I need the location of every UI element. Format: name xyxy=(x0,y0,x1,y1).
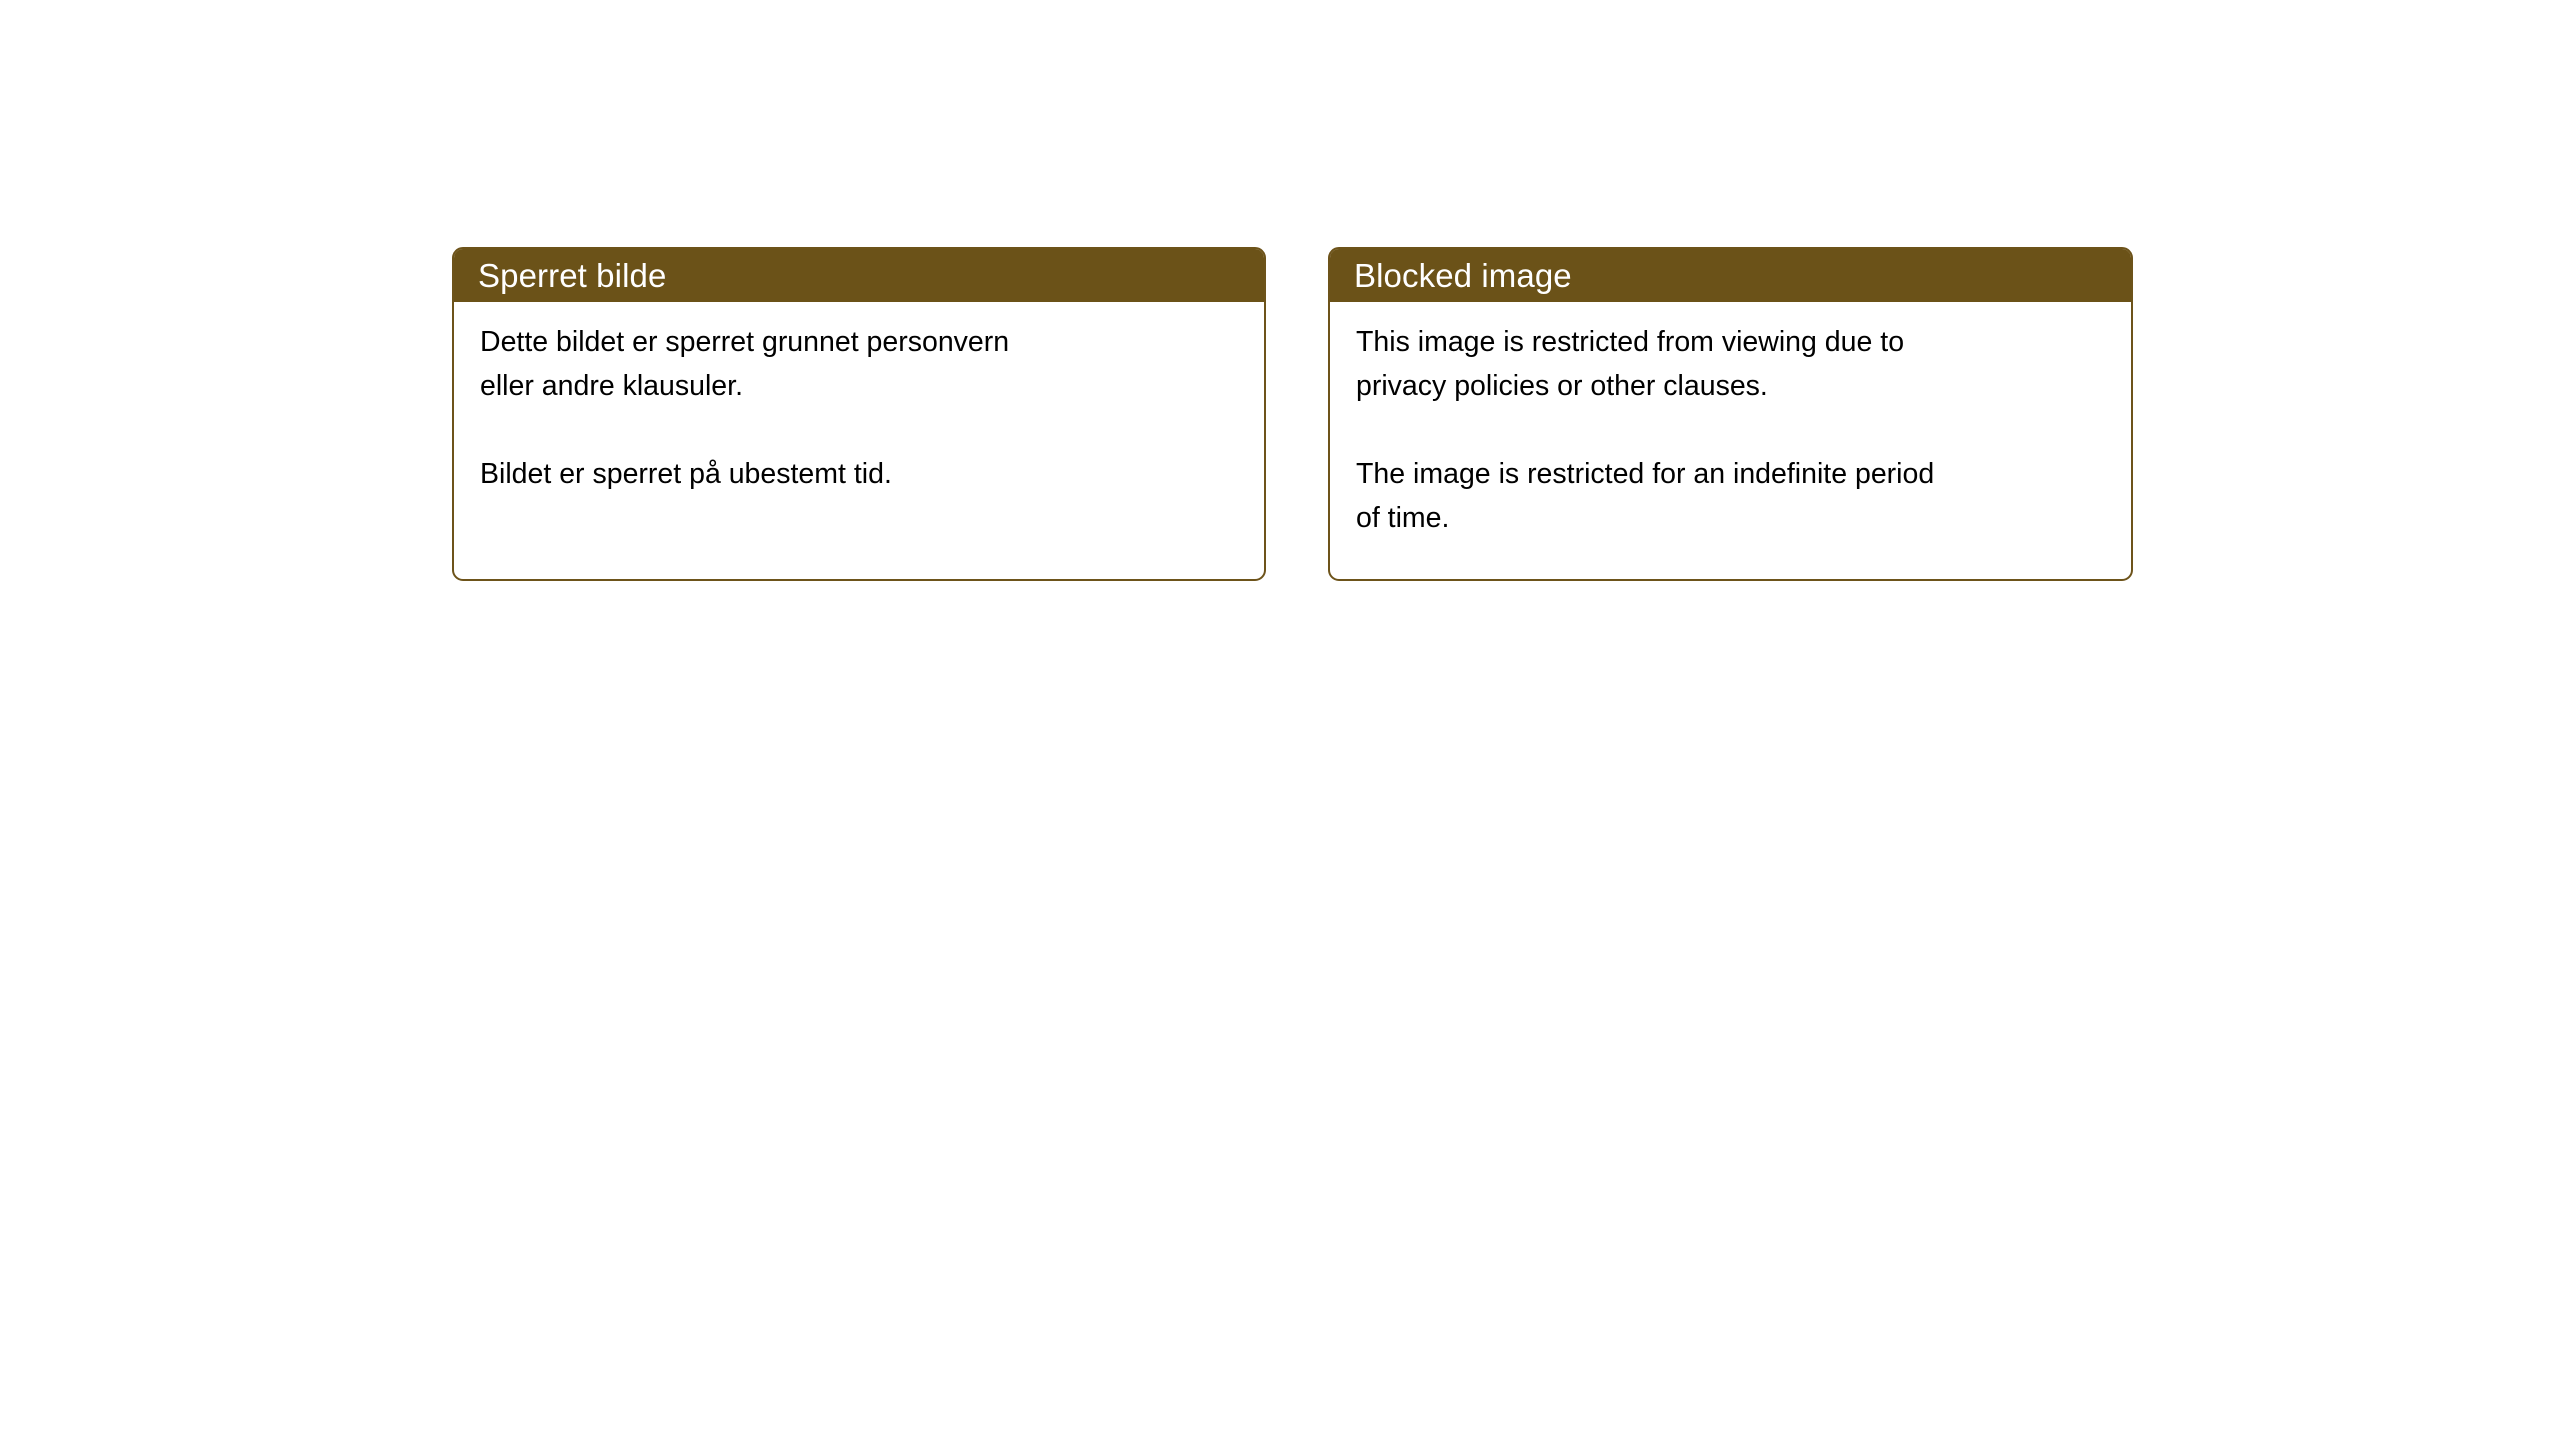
card-paragraph-secondary-english: The image is restricted for an indefinit… xyxy=(1356,452,2105,540)
card-title-norwegian: Sperret bilde xyxy=(478,259,666,292)
card-body-norwegian: Dette bildet er sperret grunnet personve… xyxy=(454,302,1264,579)
card-title-english: Blocked image xyxy=(1354,259,1572,292)
blocked-image-card-norwegian: Sperret bilde Dette bildet er sperret gr… xyxy=(452,247,1266,581)
card-header-english: Blocked image xyxy=(1330,249,2131,302)
blocked-image-notice-group: Sperret bilde Dette bildet er sperret gr… xyxy=(452,247,2133,581)
card-paragraph-secondary-norwegian: Bildet er sperret på ubestemt tid. xyxy=(480,452,1238,496)
card-paragraph-primary-norwegian: Dette bildet er sperret grunnet personve… xyxy=(480,320,1238,408)
card-paragraph-primary-english: This image is restricted from viewing du… xyxy=(1356,320,2105,408)
card-body-english: This image is restricted from viewing du… xyxy=(1330,302,2131,579)
blocked-image-card-english: Blocked image This image is restricted f… xyxy=(1328,247,2133,581)
card-header-norwegian: Sperret bilde xyxy=(454,249,1264,302)
